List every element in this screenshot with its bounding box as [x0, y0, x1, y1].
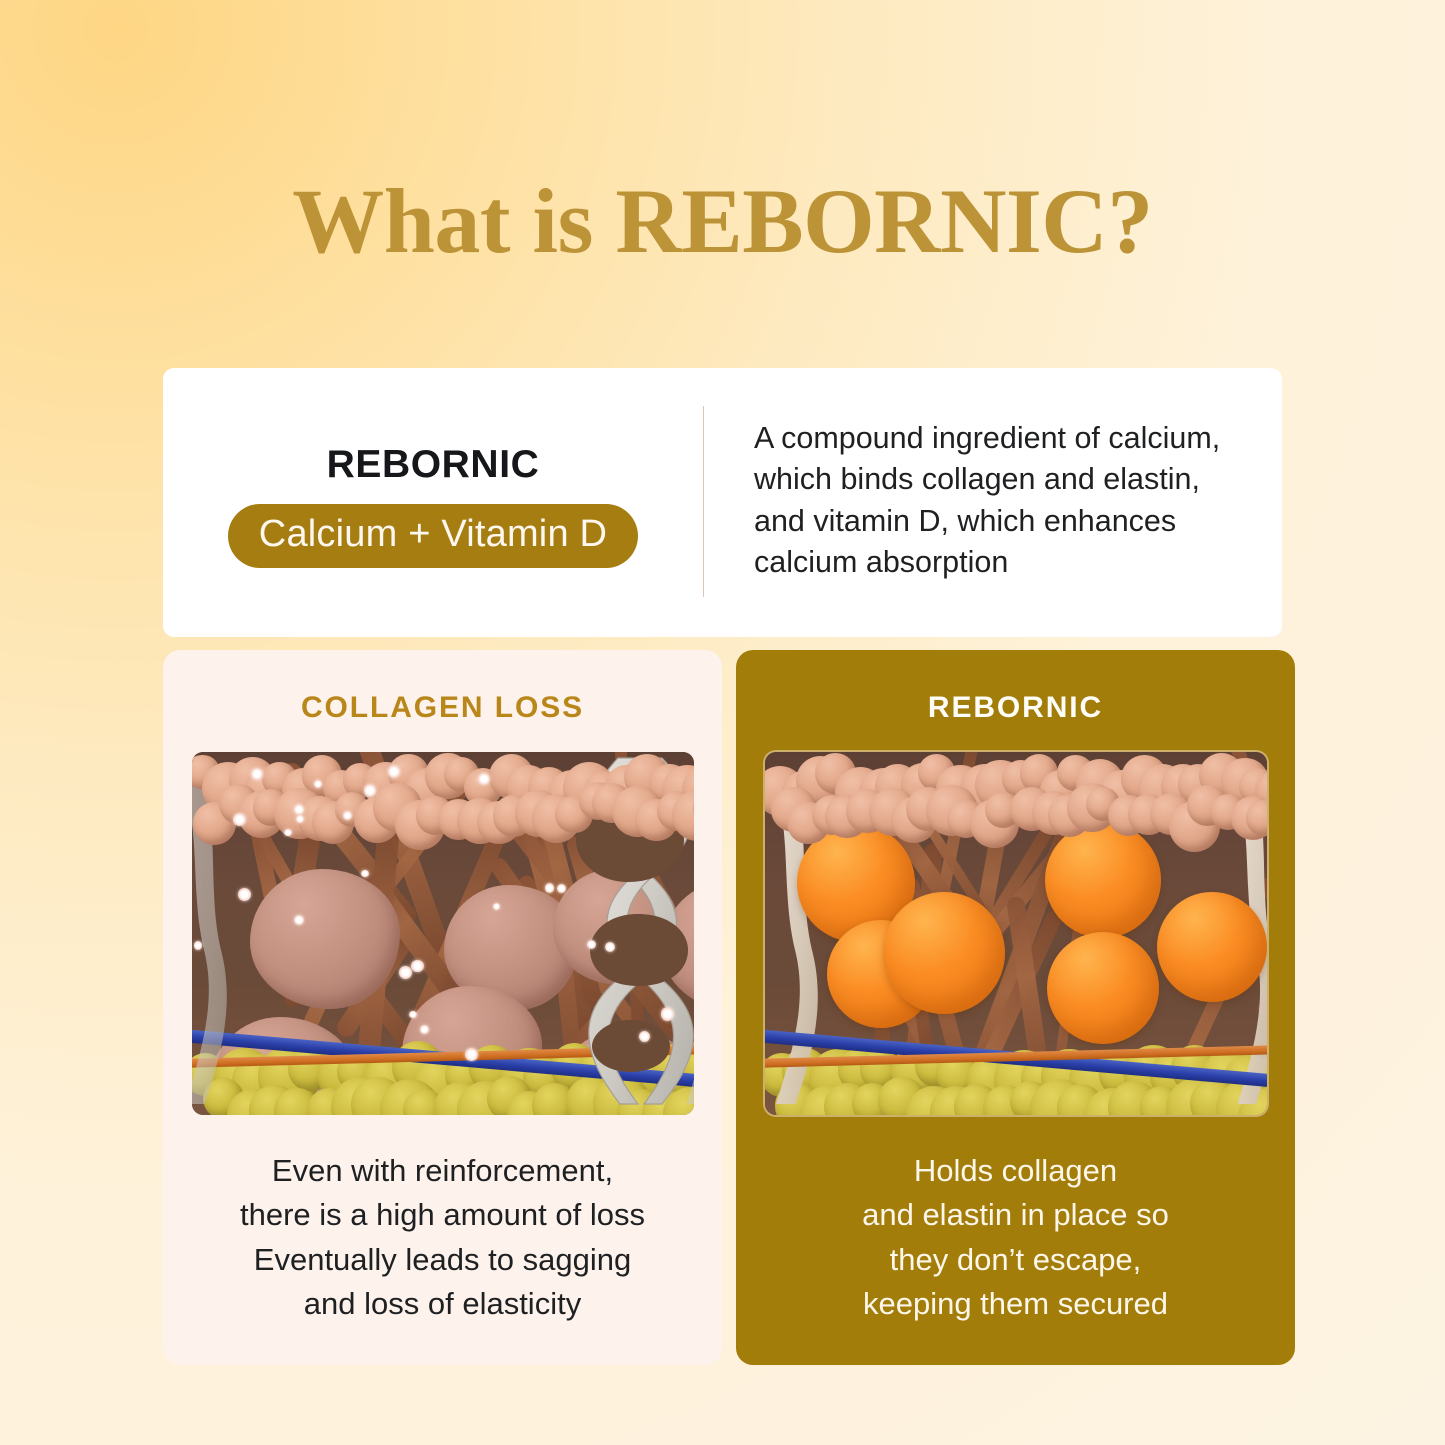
calcium-speck [194, 941, 202, 949]
calcium-speck [314, 780, 321, 787]
description-line-3: and vitamin D, which enhances [754, 504, 1176, 538]
description-line-2: which binds collagen and elastin, [754, 462, 1200, 496]
calcium-speck [388, 765, 400, 777]
calcium-speck [605, 942, 615, 952]
calcium-speck [343, 811, 351, 819]
brand-ingredient-badge: Calcium + Vitamin D [228, 504, 638, 568]
caption-line-1: Even with reinforcement, [272, 1153, 613, 1188]
calcium-speck [284, 829, 291, 836]
brand-block: REBORNIC Calcium + Vitamin D [163, 368, 703, 637]
skin-cross-section-rebornic-illustration [765, 752, 1267, 1115]
calcium-speck [238, 888, 251, 901]
comparison-card-collagen-loss: COLLAGEN LOSS Even with reinforcement, t… [163, 650, 722, 1365]
calcium-speck [399, 966, 412, 979]
calcium-speck [493, 903, 500, 910]
comparison-card-rebornic: REBORNIC Holds collagen and elastin in p… [736, 650, 1295, 1365]
epidermis-layer [765, 752, 1267, 850]
calcium-speck [420, 1025, 429, 1034]
caption-line-3: Eventually leads to sagging [254, 1242, 631, 1277]
calcium-speck [361, 870, 368, 877]
calcium-speck [233, 813, 246, 826]
caption-line-4: and loss of elasticity [304, 1286, 581, 1321]
caption-line-1: Holds collagen [914, 1153, 1117, 1188]
caption-line-2: there is a high amount of loss [240, 1197, 645, 1232]
description-line-1: A compound ingredient of calcium, [754, 421, 1220, 455]
calcium-speck [465, 1048, 478, 1061]
brand-name: REBORNIC [327, 443, 540, 487]
calcium-speck [296, 815, 304, 823]
caption-line-4: keeping them secured [863, 1286, 1168, 1321]
caption-line-3: they don’t escape, [890, 1242, 1142, 1277]
page-title: What is REBORNIC? [0, 168, 1445, 274]
skin-cross-section-collagen-loss-illustration [192, 752, 694, 1115]
description-line-4: calcium absorption [754, 545, 1008, 579]
calcium-speck [661, 1007, 674, 1020]
calcium-speck [294, 915, 304, 925]
info-card: REBORNIC Calcium + Vitamin D A compound … [163, 368, 1282, 637]
calcium-speck [545, 883, 555, 893]
card-caption-rebornic: Holds collagen and elastin in place so t… [862, 1149, 1169, 1326]
calcium-speck [409, 1011, 417, 1019]
calcium-speck [411, 960, 423, 972]
caption-line-2: and elastin in place so [862, 1197, 1169, 1232]
calcium-speck [478, 773, 490, 785]
card-heading-rebornic: REBORNIC [928, 691, 1103, 725]
calcium-speck [557, 884, 566, 893]
card-caption-collagen-loss: Even with reinforcement, there is a high… [240, 1149, 645, 1326]
brand-description: A compound ingredient of calcium, which … [704, 368, 1282, 637]
calcium-speck [294, 804, 304, 814]
calcium-speck [364, 784, 376, 796]
calcium-speck [587, 940, 596, 949]
card-heading-collagen-loss: COLLAGEN LOSS [301, 691, 584, 725]
calcium-speck [639, 1031, 650, 1042]
